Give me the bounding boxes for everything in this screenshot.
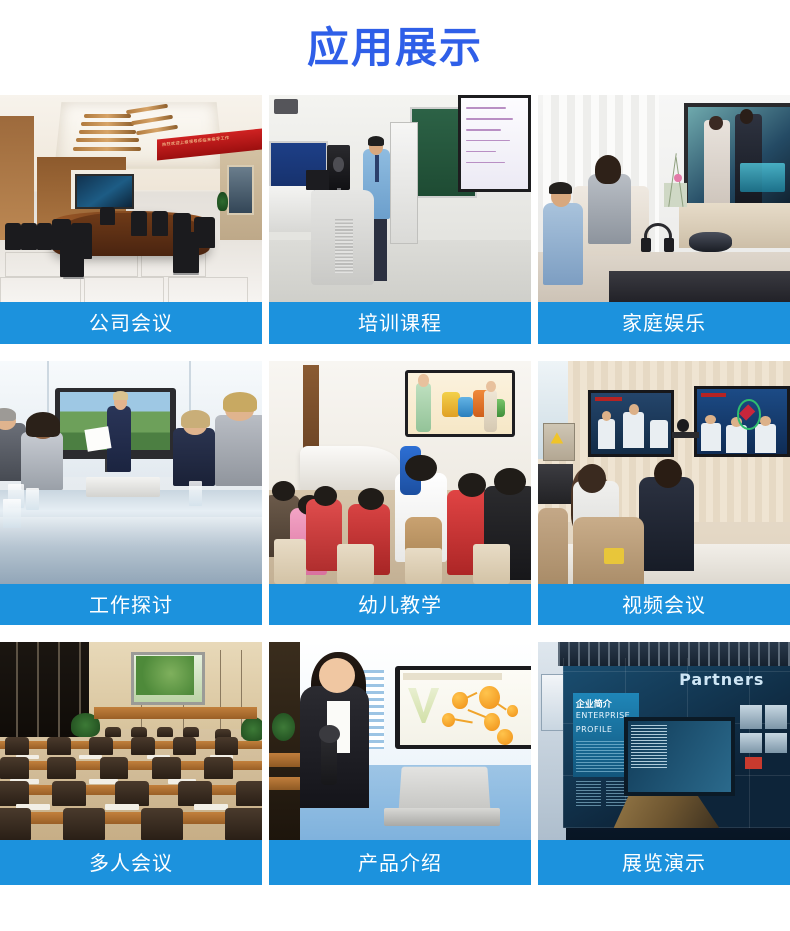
application-showcase-page: 应用展示 — [0, 0, 790, 931]
photo-kindergarten-teaching — [269, 361, 531, 584]
gallery-item-kindergarten-teaching[interactable]: 幼儿教学 — [269, 361, 531, 625]
photo-work-discussion — [0, 361, 262, 584]
caption-kindergarten-teaching: 幼儿教学 — [269, 584, 531, 625]
gallery-item-work-discussion[interactable]: 工作探讨 — [0, 361, 262, 625]
caption-product-introduction: 产品介绍 — [269, 840, 531, 885]
gallery-item-exhibition-demo[interactable]: Partners 企业简介 ENTERPRISE PROFILE — [538, 642, 790, 885]
gallery-item-company-meeting[interactable]: 热烈欢迎上级领导莅临来指导工作 — [0, 95, 262, 344]
page-title: 应用展示 — [307, 27, 483, 69]
scene-enterprise-cn: 企业简介 — [576, 697, 636, 710]
gallery-item-multi-person-meeting[interactable]: 多人会议 — [0, 642, 262, 885]
photo-training-course — [269, 95, 531, 302]
photo-multi-person-meeting — [0, 642, 262, 840]
caption-multi-person-meeting: 多人会议 — [0, 840, 262, 885]
photo-product-introduction — [269, 642, 531, 840]
caption-work-discussion: 工作探讨 — [0, 584, 262, 625]
photo-video-conference — [538, 361, 790, 584]
caption-training-course: 培训课程 — [269, 302, 531, 344]
gallery-item-product-introduction[interactable]: 产品介绍 — [269, 642, 531, 885]
caption-video-conference: 视频会议 — [538, 584, 790, 625]
photo-company-meeting: 热烈欢迎上级领导莅临来指导工作 — [0, 95, 262, 302]
page-header: 应用展示 — [0, 0, 790, 95]
photo-home-entertainment — [538, 95, 790, 302]
caption-company-meeting: 公司会议 — [0, 302, 262, 344]
caption-home-entertainment: 家庭娱乐 — [538, 302, 790, 344]
gallery-item-training-course[interactable]: 培训课程 — [269, 95, 531, 344]
application-gallery-grid: 热烈欢迎上级领导莅临来指导工作 — [0, 95, 790, 885]
scene-partners-text: Partners — [679, 670, 765, 688]
gallery-item-video-conference[interactable]: 视频会议 — [538, 361, 790, 625]
caption-exhibition-demo: 展览演示 — [538, 840, 790, 885]
photo-exhibition-demo: Partners 企业简介 ENTERPRISE PROFILE — [538, 642, 790, 840]
gallery-item-home-entertainment[interactable]: 家庭娱乐 — [538, 95, 790, 344]
